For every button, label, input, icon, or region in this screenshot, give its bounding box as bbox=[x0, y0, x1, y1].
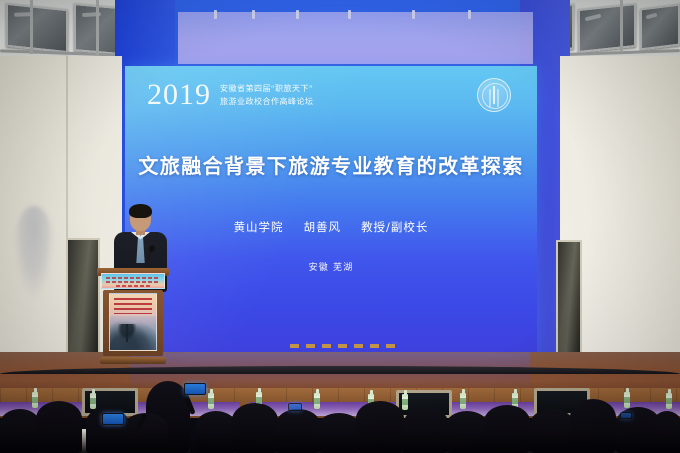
slide-header: 2019 安徽省第四届“职旅天下” 旅游业政校合作高峰论坛 bbox=[147, 80, 314, 110]
podium-poster-text bbox=[114, 298, 152, 314]
slide-subtitle-line2: 旅游业政校合作高峰论坛 bbox=[220, 97, 314, 108]
presenter-institution: 黄山学院 bbox=[234, 219, 284, 235]
water-bottle bbox=[314, 393, 320, 409]
podium-banner-text-line bbox=[106, 281, 160, 283]
slide-subtitle-line1: 安徽省第四届“职旅天下” bbox=[220, 84, 314, 95]
podium-base bbox=[100, 357, 166, 364]
slide-presenter-line: 黄山学院 胡善风 教授/副校长 bbox=[125, 219, 537, 235]
door-right bbox=[556, 240, 582, 354]
podium-poster-pine-tree bbox=[116, 324, 138, 342]
banner-clip bbox=[214, 10, 217, 19]
podium bbox=[100, 268, 166, 360]
banner-clip bbox=[468, 10, 471, 19]
hanging-cloth-banner bbox=[178, 12, 533, 64]
slide-year: 2019 bbox=[147, 80, 211, 110]
stage-edge-lights bbox=[290, 344, 400, 348]
speaker-hair bbox=[129, 204, 152, 218]
water-bottle bbox=[666, 393, 672, 409]
water-bottle bbox=[402, 394, 408, 410]
water-bottle bbox=[624, 392, 630, 408]
banner-clip bbox=[296, 10, 299, 19]
presenter-position: 教授/副校长 bbox=[361, 219, 428, 235]
door-right-panel bbox=[558, 242, 580, 352]
ceiling-hanger bbox=[96, 0, 99, 56]
slide-title: 文旅融合背景下旅游专业教育的改革探索 bbox=[125, 150, 537, 179]
banner-clip bbox=[348, 10, 351, 19]
ceiling-hanger bbox=[30, 0, 33, 54]
conference-hall-photo: 2019 安徽省第四届“职旅天下” 旅游业政校合作高峰论坛 文旅融合背景下旅游专… bbox=[0, 0, 680, 453]
banner-clip bbox=[252, 10, 255, 19]
ceiling-panel bbox=[578, 3, 636, 53]
smartphone-screen bbox=[620, 412, 632, 419]
ceiling-panel bbox=[6, 3, 68, 54]
podium-poster bbox=[109, 293, 157, 351]
water-bottle bbox=[90, 393, 96, 409]
university-emblem-icon bbox=[477, 78, 511, 112]
podium-banner-text-line bbox=[106, 277, 160, 279]
ceiling-hanger bbox=[620, 0, 623, 52]
door-left bbox=[66, 238, 100, 354]
water-bottle bbox=[32, 392, 38, 408]
banner-clip bbox=[412, 10, 415, 19]
podium-banner-text-line bbox=[116, 285, 150, 287]
slide-subtitle-block: 安徽省第四届“职旅天下” 旅游业政校合作高峰论坛 bbox=[220, 84, 314, 110]
smartphone-screen bbox=[102, 413, 124, 425]
presenter-name: 胡善风 bbox=[304, 219, 342, 235]
wall-shadow bbox=[14, 206, 54, 298]
audience-foreground-shadow bbox=[0, 431, 680, 453]
projection-screen: 2019 安徽省第四届“职旅天下” 旅游业政校合作高峰论坛 文旅融合背景下旅游专… bbox=[125, 66, 537, 359]
water-bottle bbox=[208, 393, 214, 409]
smartphone-screen bbox=[288, 403, 302, 411]
podium-header-banner bbox=[101, 273, 165, 289]
smartphone-screen bbox=[184, 383, 206, 395]
door-left-panel bbox=[68, 240, 98, 352]
water-bottle bbox=[460, 393, 466, 409]
ceiling-panel bbox=[640, 4, 680, 51]
slide-location: 安徽 芜湖 bbox=[125, 260, 537, 273]
